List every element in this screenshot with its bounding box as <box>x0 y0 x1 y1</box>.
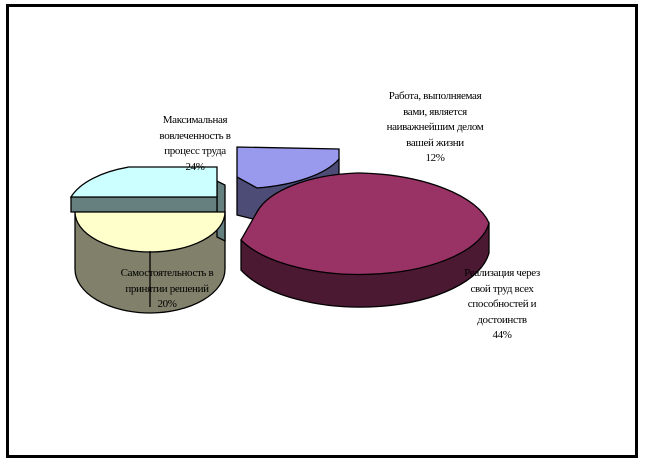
pie-label-line: Работа, выполняемая <box>355 89 515 105</box>
pie-label-line: процесс труда <box>121 144 269 160</box>
pie-label-line: вовлеченность в <box>121 129 269 145</box>
pie-label-line: вашей жизни <box>355 136 515 152</box>
pie-label-line: Самостоятельность в <box>87 266 247 282</box>
pie-label-line: принятии решений <box>87 282 247 298</box>
pie-slice-band-cyan <box>71 197 217 212</box>
pie-label-maksimalnaya: Максимальная вовлеченность в процесс тру… <box>121 113 269 175</box>
pie-label-percent: 24% <box>121 160 269 176</box>
pie-label-line: достоинств <box>427 313 577 329</box>
pie-label-line: Максимальная <box>121 113 269 129</box>
pie-label-rabota: Работа, выполняемая вами, является наива… <box>355 89 515 167</box>
pie-label-line: вами, является <box>355 105 515 121</box>
pie-chart-graphic <box>9 7 635 455</box>
pie-label-percent: 12% <box>355 151 515 167</box>
pie-label-line: свой труд всех <box>427 282 577 298</box>
pie-label-line: способностей и <box>427 297 577 313</box>
pie-label-realizaciya: Реализация через свой труд всех способно… <box>427 266 577 344</box>
pie-label-percent: 20% <box>87 297 247 313</box>
pie-label-line: наиважнейшим делом <box>355 120 515 136</box>
chart-frame: Работа, выполняемая вами, является наива… <box>6 4 638 458</box>
pie-slice-side-cyan <box>217 181 225 241</box>
pie-label-line: Реализация через <box>427 266 577 282</box>
pie-label-percent: 44% <box>427 328 577 344</box>
pie-label-samostoyatelnost: Самостоятельность в принятии решений 20% <box>87 266 247 313</box>
